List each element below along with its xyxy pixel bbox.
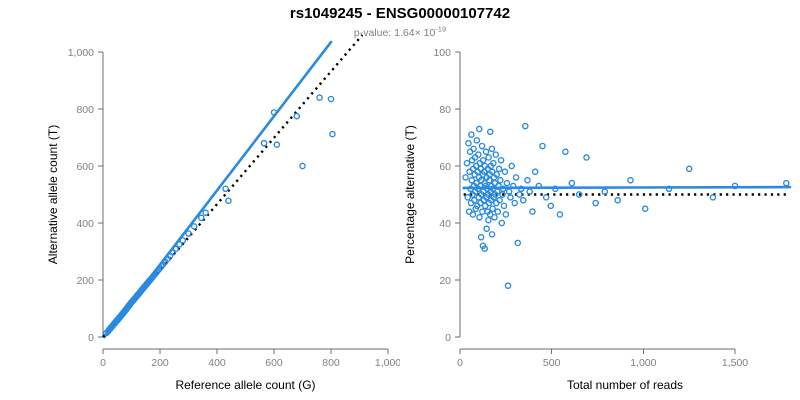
data-point [480, 209, 485, 214]
data-point [569, 181, 574, 186]
y-tick-label: 20 [439, 275, 451, 287]
data-point [784, 181, 789, 186]
data-point [486, 155, 491, 160]
data-point [199, 215, 204, 220]
data-point [544, 195, 549, 200]
data-point [628, 178, 633, 183]
data-point [517, 192, 522, 197]
data-point [509, 163, 514, 168]
data-point [615, 198, 620, 203]
y-tick-label: 60 [439, 161, 451, 173]
data-point [490, 206, 495, 211]
data-point [492, 215, 497, 220]
data-point [479, 143, 484, 148]
data-point [261, 141, 266, 146]
x-tick-label: 400 [208, 357, 226, 369]
scatter-points [463, 124, 789, 289]
data-point [563, 149, 568, 154]
right-plot-canvas: 02040608010005001,0001,500Total number o… [400, 0, 800, 400]
data-point [466, 141, 471, 146]
data-point [317, 95, 322, 100]
y-tick-label: 0 [88, 332, 94, 344]
data-point [488, 129, 493, 134]
x-tick-label: 200 [151, 357, 169, 369]
data-point [470, 212, 475, 217]
data-point [498, 178, 503, 183]
data-point [300, 163, 305, 168]
data-point [477, 215, 482, 220]
scatter-panel-left: 02004006008001,00002004006008001,000Refe… [0, 0, 400, 400]
data-point [463, 175, 468, 180]
data-point [557, 212, 562, 217]
scatter-points-overlay [104, 95, 335, 336]
data-point [328, 96, 333, 101]
data-point [180, 238, 185, 243]
x-tick-label: 1,500 [722, 357, 748, 369]
data-point [486, 218, 491, 223]
data-point [477, 126, 482, 131]
data-point [512, 200, 517, 205]
data-point [226, 198, 231, 203]
data-point [484, 226, 489, 231]
data-point [548, 203, 553, 208]
data-point [330, 131, 335, 136]
data-point [223, 186, 228, 191]
data-point [493, 152, 498, 157]
data-point [274, 142, 279, 147]
x-axis-title: Reference allele count (G) [175, 378, 315, 392]
y-axis-title: Alternative allele count (T) [46, 125, 60, 264]
data-point [489, 146, 494, 151]
data-point [502, 169, 507, 174]
data-point [501, 203, 506, 208]
data-point [489, 232, 494, 237]
data-point [504, 181, 509, 186]
y-tick-label: 200 [76, 275, 94, 287]
data-point [514, 175, 519, 180]
data-point [469, 132, 474, 137]
data-point [495, 209, 500, 214]
data-point [467, 149, 472, 154]
data-point [464, 161, 469, 166]
data-point [499, 220, 504, 225]
x-tick-label: 600 [265, 357, 283, 369]
scatter-panel-right: 02040608010005001,0001,500Total number o… [400, 0, 800, 400]
data-point [687, 166, 692, 171]
scatter-points [104, 95, 335, 336]
y-tick-label: 400 [76, 218, 94, 230]
figure-root: rs1049245 - ENSG00000107742 p-value: 1.6… [0, 0, 800, 400]
left-plot-canvas: 02004006008001,00002004006008001,000Refe… [0, 0, 400, 400]
x-tick-label: 1,000 [630, 357, 656, 369]
data-point [515, 240, 520, 245]
data-point [468, 200, 473, 205]
data-point [530, 209, 535, 214]
x-axis-title: Total number of reads [567, 378, 683, 392]
data-point [523, 124, 528, 129]
scatter-points-overlay [463, 124, 789, 289]
data-point [533, 169, 538, 174]
y-axis-title: Percentage alternative (T) [403, 125, 417, 264]
y-tick-label: 1,000 [68, 47, 94, 59]
fit-line [464, 187, 790, 188]
y-tick-label: 40 [439, 218, 451, 230]
data-point [521, 198, 526, 203]
x-tick-label: 500 [543, 357, 561, 369]
data-point [477, 161, 482, 166]
data-point [505, 283, 510, 288]
y-tick-label: 0 [445, 332, 451, 344]
data-point [476, 152, 481, 157]
data-point [494, 200, 499, 205]
data-point [710, 195, 715, 200]
data-point [481, 158, 486, 163]
y-tick-label: 100 [433, 47, 451, 59]
data-point [525, 178, 530, 183]
data-point [503, 212, 508, 217]
y-tick-label: 80 [439, 104, 451, 116]
x-tick-label: 800 [322, 357, 340, 369]
data-point [294, 114, 299, 119]
x-tick-label: 0 [100, 357, 106, 369]
data-point [497, 198, 502, 203]
data-point [498, 158, 503, 163]
data-point [584, 155, 589, 160]
data-point [483, 149, 488, 154]
data-point [540, 143, 545, 148]
y-tick-label: 600 [76, 161, 94, 173]
data-point [593, 200, 598, 205]
data-point [203, 210, 208, 215]
data-point [643, 206, 648, 211]
data-point [471, 146, 476, 151]
x-tick-label: 0 [457, 357, 463, 369]
data-point [478, 235, 483, 240]
y-tick-label: 800 [76, 104, 94, 116]
data-point [474, 138, 479, 143]
data-point [496, 166, 501, 171]
data-point [192, 224, 197, 229]
x-tick-label: 1,000 [375, 357, 400, 369]
